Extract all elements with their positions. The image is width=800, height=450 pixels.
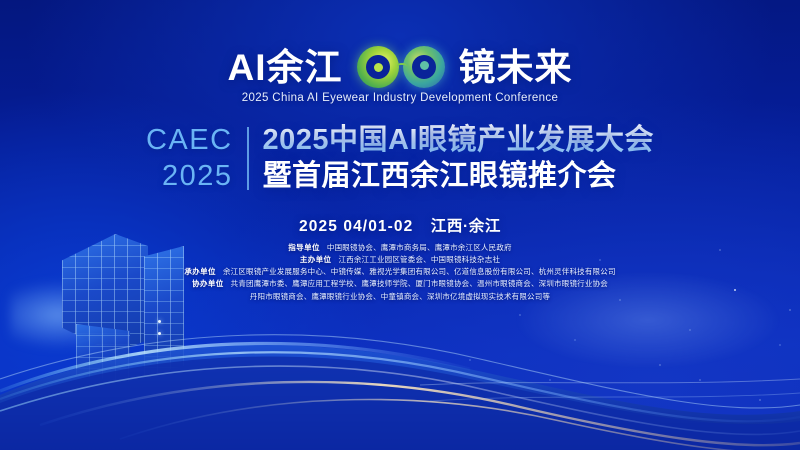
organizer-row: 主办单位 江西余江工业园区管委会、中国眼镜科技杂志社	[300, 255, 500, 265]
acronym-line-1: CAEC	[146, 123, 233, 159]
organizer-row: 承办单位 余江区眼镜产业发展服务中心、中镜传媒、雅视光学集团有限公司、亿道信息股…	[184, 267, 615, 277]
main-title-line-1: 2025中国AI眼镜产业发展大会	[263, 123, 655, 159]
lens-left-icon	[357, 46, 399, 88]
organizer-label: 主办单位	[300, 255, 332, 265]
organizer-value: 丹阳市眼镜商会、鹰潭眼镜行业协会、中童镇商会、深圳市亿境虚拟现实技术有限公司等	[250, 292, 550, 302]
acronym-block: CAEC 2025	[146, 123, 247, 194]
title-block: CAEC 2025 2025中国AI眼镜产业发展大会 暨首届江西余江眼镜推介会	[0, 123, 800, 194]
lens-bridge-icon	[397, 63, 407, 72]
organizers-list: 指导单位 中国眼镜协会、鹰潭市商务局、鹰潭市余江区人民政府 主办单位 江西余江工…	[0, 243, 800, 302]
conference-poster: AI余江 镜未来 2025 China AI Eyewear Industry …	[0, 0, 800, 450]
organizer-value: 中国眼镜协会、鹰潭市商务局、鹰潭市余江区人民政府	[327, 243, 512, 253]
eyeglasses-lens-logo-icon	[357, 46, 445, 88]
lens-left-dot	[374, 63, 383, 72]
organizer-value: 共青团鹰潭市委、鹰潭应用工程学校、鹰潭技师学院、厦门市眼镜协会、温州市眼镜商会、…	[231, 279, 608, 289]
main-title-line-2: 暨首届江西余江眼镜推介会	[263, 159, 655, 195]
acronym-line-2: 2025	[146, 159, 233, 195]
organizer-row-continued: 丹阳市眼镜商会、鹰潭眼镜行业协会、中童镇商会、深圳市亿境虚拟现实技术有限公司等	[250, 292, 550, 302]
organizer-value: 余江区眼镜产业发展服务中心、中镜传媒、雅视光学集团有限公司、亿道信息股份有限公司…	[223, 267, 616, 277]
lens-right-icon	[403, 46, 445, 88]
organizer-row: 指导单位 中国眼镜协会、鹰潭市商务局、鹰潭市余江区人民政府	[288, 243, 511, 253]
organizer-row: 协办单位 共青团鹰潭市委、鹰潭应用工程学校、鹰潭技师学院、厦门市眼镜协会、温州市…	[192, 279, 608, 289]
main-titles: 2025中国AI眼镜产业发展大会 暨首届江西余江眼镜推介会	[249, 123, 655, 194]
location-text: 江西·余江	[431, 218, 501, 235]
organizer-label: 指导单位	[288, 243, 320, 253]
english-subtitle: 2025 China AI Eyewear Industry Developme…	[0, 92, 800, 104]
logo-row: AI余江 镜未来	[0, 46, 800, 88]
title-divider	[247, 127, 249, 190]
lens-right-dot	[420, 61, 429, 70]
date-days: 04/01-02	[343, 218, 413, 235]
logo-text-right: 镜未来	[459, 49, 573, 86]
date-year: 2025	[299, 218, 338, 235]
logo-text-left: AI余江	[228, 49, 343, 86]
organizer-value: 江西余江工业园区管委会、中国眼镜科技杂志社	[338, 255, 500, 265]
organizer-label: 承办单位	[184, 267, 216, 277]
date-location-row: 2025 04/01-02 江西·余江	[0, 214, 800, 236]
organizer-label: 协办单位	[192, 279, 224, 289]
